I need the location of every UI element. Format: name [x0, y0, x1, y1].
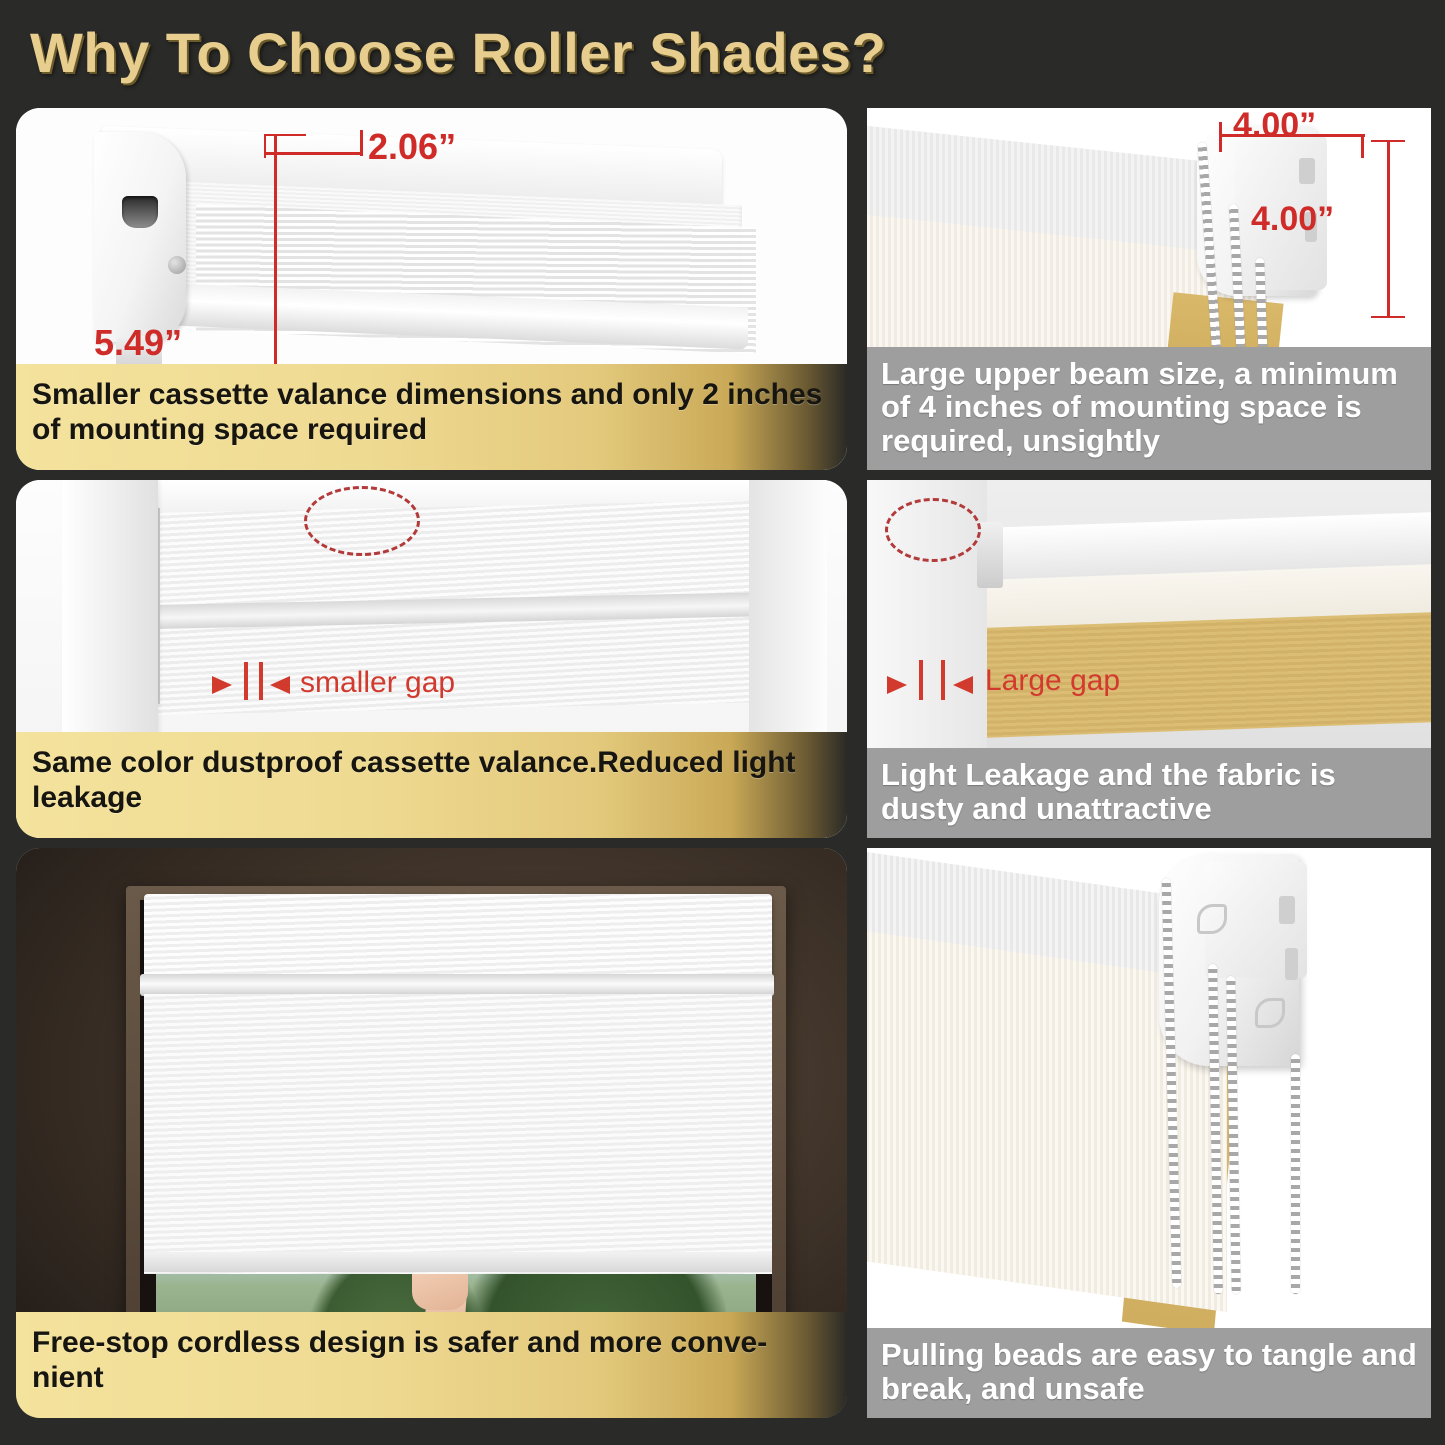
grid-cell-6: Pulling beads are easy to tangle and bre… [859, 848, 1431, 1428]
panel-2[interactable]: 4.00” 4.00” Large upper beam size, a min… [867, 108, 1431, 470]
gap-arrow-right-icon [887, 676, 907, 694]
gap-bar-right [259, 662, 263, 700]
panel-5-caption-line1: Free-stop cordless design is safer and m… [32, 1326, 831, 1361]
dim-side-cap-bottom [1371, 316, 1405, 318]
gap-bar-left [244, 662, 248, 700]
gap-label-smaller: smaller gap [300, 666, 455, 700]
panel-4[interactable]: Large gap Light Leakage and the fabric i… [867, 480, 1431, 838]
dim-width-tick-right [360, 130, 363, 156]
dim-side-cap-top [1371, 140, 1405, 142]
grid-cell-5: Free-stop cordless design is safer and m… [16, 848, 859, 1428]
panel-3-caption: Same color dustproof cassette valance.Re… [16, 732, 847, 838]
gap-arrow-left-icon [270, 676, 290, 694]
gap-arrow-left-icon [953, 676, 973, 694]
dimension-label-height-bad: 4.00” [1251, 200, 1334, 239]
valance-slot-icon [122, 196, 158, 228]
dim-side-line [1387, 140, 1390, 318]
highlight-oval-icon [885, 498, 981, 562]
panel-3[interactable]: smaller gap Same color dustproof cassett… [16, 480, 847, 838]
panel-6[interactable]: Pulling beads are easy to tangle and bre… [867, 848, 1431, 1418]
gap-bar-left [919, 660, 923, 700]
page-title: Why To Choose Roller Shades? [30, 20, 886, 85]
panel-1[interactable]: 2.06” 5.49” Smaller cassette valance dim… [16, 108, 847, 470]
panel-6-caption: Pulling beads are easy to tangle and bre… [867, 1328, 1431, 1418]
panel-1-caption: Smaller cassette valance dimensions and … [16, 364, 847, 470]
grid-cell-4: Large gap Light Leakage and the fabric i… [859, 480, 1431, 848]
beaded-chain-4 [1291, 1054, 1300, 1294]
panel-4-caption: Light Leakage and the fabric is dusty an… [867, 748, 1431, 838]
gap-bar-right [941, 660, 945, 700]
grid-cell-2: 4.00” 4.00” Large upper beam size, a min… [859, 108, 1431, 480]
dimension-label-height: 5.49” [94, 322, 182, 364]
dim-top-tick-right [1361, 134, 1364, 158]
panel-5-caption: Free-stop cordless design is safer and m… [16, 1312, 847, 1418]
dimension-label-width-bad: 4.00” [1233, 108, 1316, 145]
gap-arrow-right-icon [212, 676, 232, 694]
bracket-tab-icon-2 [1285, 948, 1298, 980]
bracket-tab-icon [1299, 158, 1315, 184]
page-header: Why To Choose Roller Shades? [0, 0, 1445, 104]
dimension-label-width: 2.06” [368, 126, 456, 168]
highlight-oval-icon [304, 486, 420, 556]
panel-2-caption: Large upper beam size, a minimum of 4 in… [867, 347, 1431, 470]
panel-5-caption-line2: nient [32, 1361, 831, 1396]
comparison-grid: 2.06” 5.49” Smaller cassette valance dim… [16, 108, 1429, 1438]
gap-label-large: Large gap [985, 664, 1120, 698]
dim-width-cap-left [264, 134, 306, 136]
grid-cell-1: 2.06” 5.49” Smaller cassette valance dim… [16, 108, 859, 480]
dim-width-line [266, 152, 362, 155]
panel-5[interactable]: Free-stop cordless design is safer and m… [16, 848, 847, 1418]
screw-icon [168, 256, 186, 274]
bracket-tab-icon [1279, 896, 1295, 924]
cassette-valance [144, 894, 772, 980]
dim-top-tick-left [1219, 122, 1222, 152]
grid-cell-3: smaller gap Same color dustproof cassett… [16, 480, 859, 848]
